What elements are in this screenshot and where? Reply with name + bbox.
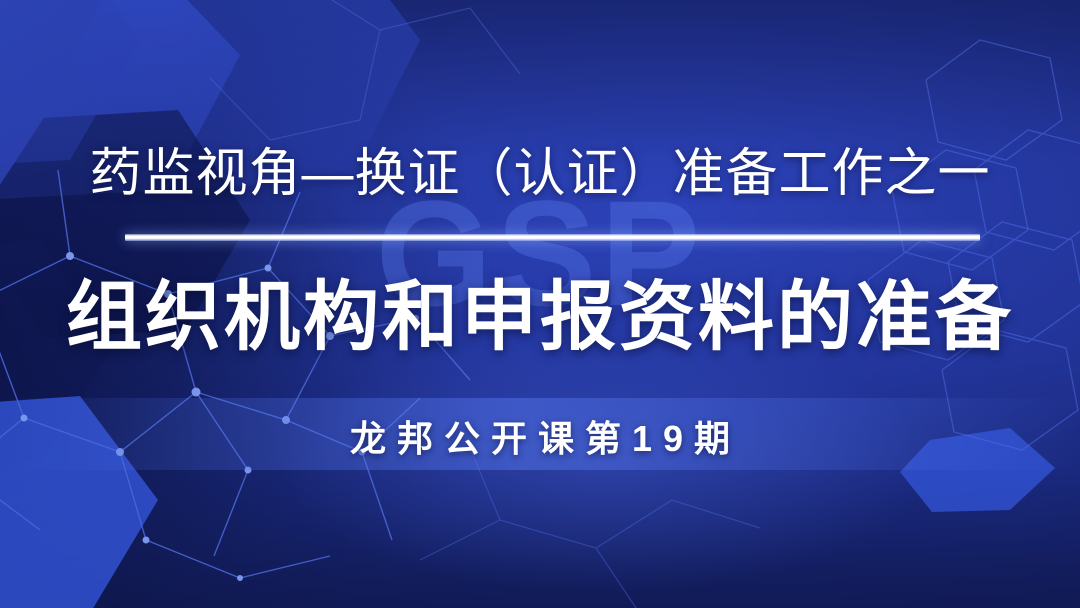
kicker-line: 药监视角—换证（认证）准备工作之一	[0, 144, 1080, 204]
poster-headline: 组织机构和申报资料的准备	[0, 274, 1080, 362]
poster-subtitle: 龙邦公开课第19期	[0, 410, 1080, 462]
title-divider-rule	[125, 234, 980, 241]
poster-canvas: GSP 药监视角—换证（认证）准备工作之一 组织机构和申报资料的准备 龙邦公开课…	[0, 0, 1080, 608]
poster-content: 药监视角—换证（认证）准备工作之一 组织机构和申报资料的准备 龙邦公开课第19期	[0, 0, 1080, 608]
